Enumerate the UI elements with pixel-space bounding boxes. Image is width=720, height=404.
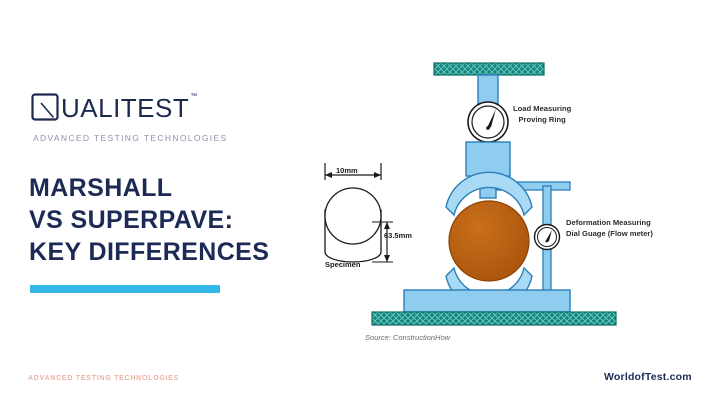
ground-bar <box>372 312 616 325</box>
page-title-line-3: KEY DIFFERENCES <box>29 236 291 268</box>
page-title: MARSHALL VS SUPERPAVE: KEY DIFFERENCES <box>29 172 291 268</box>
logo-text-letters: UALITEST <box>61 93 189 123</box>
callout-load-measuring-proving-ring: Load Measuring Proving Ring <box>513 103 571 125</box>
deformation-dial-gauge <box>535 225 560 250</box>
marshall-testing-machine <box>372 63 616 325</box>
asphalt-specimen <box>449 201 529 281</box>
specimen-width-label: 10mm <box>336 166 358 175</box>
load-proving-ring-gauge <box>468 102 508 142</box>
left-content-panel: UALITEST™ ADVANCED TESTING TECHNOLOGIES … <box>0 0 300 404</box>
logo-text: UALITEST™ <box>61 95 197 121</box>
callout-load-line-1: Load Measuring <box>513 103 571 114</box>
specimen-caption: Specimen <box>325 260 360 269</box>
load-transfer-block <box>466 142 510 176</box>
logo-trademark: ™ <box>190 93 198 100</box>
source-attribution: Source: ConstructionHow <box>365 333 450 342</box>
callout-load-line-2: Proving Ring <box>513 114 571 125</box>
qualitest-q-square-icon <box>30 92 60 122</box>
slide-canvas: UALITEST™ ADVANCED TESTING TECHNOLOGIES … <box>0 0 720 404</box>
callout-deformation-line-2: Dial Guage (Flow meter) <box>566 228 653 239</box>
page-title-line-2: VS SUPERPAVE: <box>29 204 291 236</box>
qualitest-logo: UALITEST™ ADVANCED TESTING TECHNOLOGIES <box>30 90 250 143</box>
logo-wordmark: UALITEST™ <box>30 90 250 124</box>
upper-shaft <box>478 75 498 105</box>
base-platform <box>404 290 570 312</box>
marshall-stability-test-diagram: 10mm 63.5mm Specimen Load Measuring Prov… <box>300 0 720 404</box>
specimen-sketch <box>325 163 393 262</box>
footer-tagline: ADVANCED TESTING TECHNOLOGIES <box>28 375 179 382</box>
logo-tagline: ADVANCED TESTING TECHNOLOGIES <box>33 133 250 143</box>
title-underline-bar <box>30 285 220 293</box>
callout-deformation-line-1: Deformation Measuring <box>566 217 653 228</box>
callout-deformation-dial-gauge: Deformation Measuring Dial Guage (Flow m… <box>566 217 653 239</box>
page-title-line-1: MARSHALL <box>29 172 291 204</box>
top-crosshead-bar <box>434 63 544 75</box>
specimen-height-label: 63.5mm <box>384 231 412 240</box>
site-credit: WorldofTest.com <box>604 371 692 383</box>
